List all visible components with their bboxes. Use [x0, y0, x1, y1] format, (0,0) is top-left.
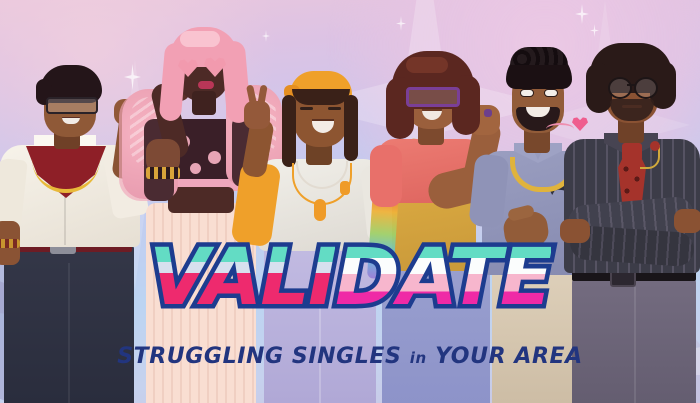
skirt-seam — [319, 251, 321, 403]
peace-sign-hand — [244, 101, 270, 129]
purple-glasses — [406, 87, 460, 107]
eye-closed — [300, 107, 313, 110]
hand — [674, 209, 700, 233]
beaded-bracelet — [0, 239, 20, 248]
hair-highlight — [406, 57, 448, 73]
hand — [560, 219, 590, 243]
hair-highlight — [180, 31, 220, 47]
eye-closed — [328, 107, 341, 110]
tagline-part-2: in — [410, 349, 427, 367]
neck — [192, 91, 216, 115]
hair-strand-left — [159, 42, 188, 122]
lapel-pin — [650, 141, 660, 151]
tagline-part-1: STRUGGLING SINGLES — [117, 344, 401, 369]
floral-motif — [208, 151, 221, 164]
hair-front — [292, 89, 350, 105]
braid-left — [282, 95, 296, 167]
tagline-part-3: YOUR AREA — [435, 344, 583, 369]
eye — [520, 89, 534, 97]
left-sleeve — [370, 145, 402, 207]
eyeglasses — [46, 97, 98, 114]
pendant-small — [340, 181, 350, 195]
lips — [198, 81, 214, 89]
pendant — [314, 199, 326, 221]
round-glasses — [608, 77, 632, 99]
tagline: STRUGGLING SINGLES in YOUR AREA — [0, 344, 700, 369]
midriff — [168, 187, 234, 213]
key-art-canvas: VALI VALI DATE DATE STRUGGLING SINGLES i… — [0, 0, 700, 403]
studded-bracelet — [146, 167, 180, 179]
frown — [622, 105, 642, 108]
round-glasses — [634, 77, 658, 99]
floral-motif — [190, 163, 201, 174]
glasses-bridge — [627, 84, 636, 86]
trouser-seam — [68, 263, 70, 403]
